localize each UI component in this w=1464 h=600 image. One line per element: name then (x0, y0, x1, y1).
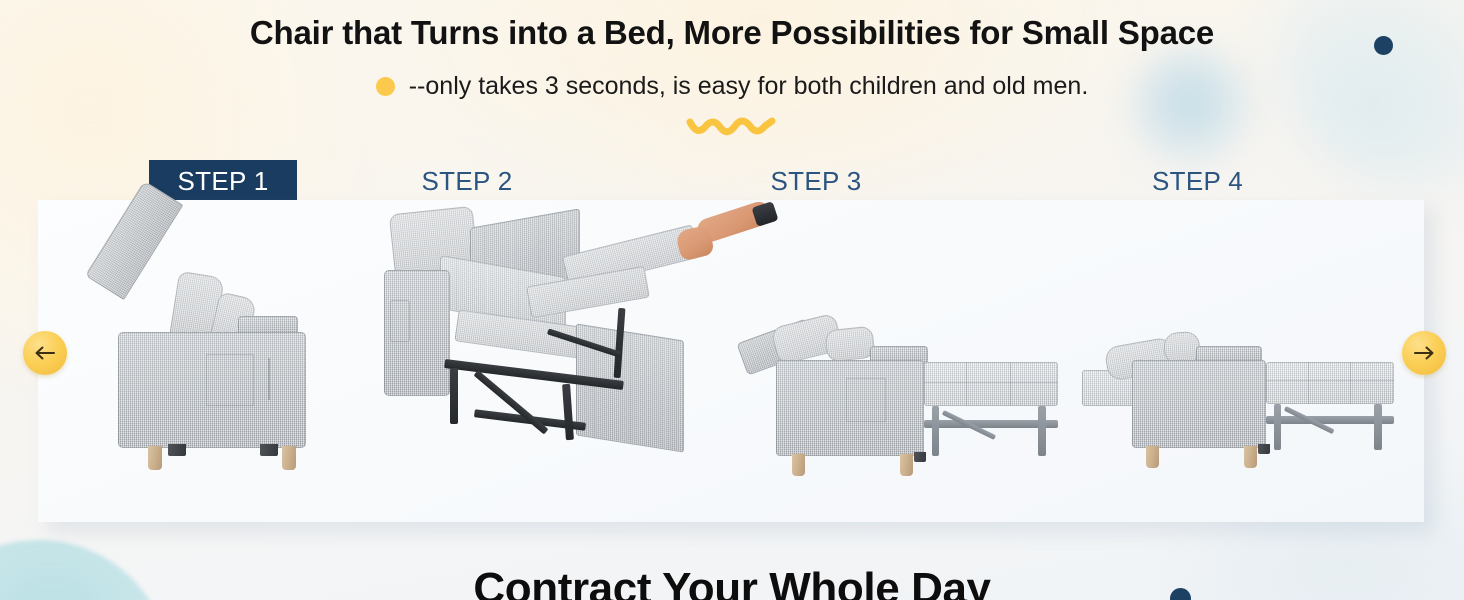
step2-arm-pocket (390, 300, 410, 342)
step4-foot-back (1258, 444, 1270, 454)
step3-frame-leg-2 (1038, 406, 1046, 456)
step3-foot-back (914, 452, 926, 462)
navy-dot-icon (1374, 36, 1393, 55)
step4-leg-back (1244, 446, 1257, 468)
step4-side-body (1132, 360, 1266, 448)
step3-frame-leg-1 (932, 406, 939, 456)
step3-bed-platform (924, 362, 1058, 406)
yellow-wave-divider-icon (686, 112, 778, 142)
step-tab-2-label: STEP 2 (422, 166, 513, 197)
chair-seam-vertical (268, 358, 270, 400)
chair-leg-back (282, 446, 296, 470)
step2-frame-leg-2 (562, 384, 574, 440)
step2-frame-leg-1 (450, 368, 458, 424)
page-title: Chair that Turns into a Bed, More Possib… (0, 14, 1464, 52)
step-tab-2[interactable]: STEP 2 (297, 160, 637, 202)
step-tab-bar: STEP 1 STEP 2 STEP 3 STEP 4 (55, 160, 1400, 202)
infographic-stage: Chair that Turns into a Bed, More Possib… (0, 0, 1464, 600)
chair-seam-detail (206, 354, 254, 406)
arrow-left-icon (34, 346, 56, 360)
step-1-figure (110, 250, 330, 480)
bottom-section-title: Contract Your Whole Day (0, 564, 1464, 600)
step3-leg-back (900, 454, 913, 476)
step-tab-3-label: STEP 3 (771, 166, 862, 197)
step-tab-1[interactable]: STEP 1 (149, 160, 297, 202)
step-tab-4-label: STEP 4 (1152, 166, 1243, 197)
step-images-panel (38, 200, 1424, 522)
chair-leg-front (148, 446, 162, 470)
step4-bed-platform (1266, 362, 1394, 404)
step4-frame-leg-1 (1274, 404, 1281, 450)
step4-bed-tuft-h (1266, 380, 1394, 381)
step4-bed-tuft-2 (1350, 362, 1351, 404)
step3-bed-tuft-1 (966, 362, 967, 406)
chair-foot-front (168, 444, 186, 456)
step-4-figure (1076, 304, 1406, 474)
subtitle-row: --only takes 3 seconds, is easy for both… (0, 72, 1464, 101)
chair-foot-back (260, 444, 278, 456)
step3-bed-tuft-2 (1010, 362, 1011, 406)
step3-bed-tuft-h (924, 382, 1058, 383)
step4-frame-leg-2 (1374, 404, 1382, 450)
arrow-right-icon (1413, 346, 1435, 360)
page-subtitle: --only takes 3 seconds, is easy for both… (409, 72, 1089, 101)
step3-pillow-2 (824, 326, 875, 363)
step-3-figure (738, 304, 1068, 476)
step2-frame-diagonal-1 (474, 370, 549, 434)
step-tab-3[interactable]: STEP 3 (637, 160, 995, 202)
step-tab-1-label: STEP 1 (178, 166, 269, 197)
yellow-dot-icon (376, 77, 395, 96)
next-slide-button[interactable] (1402, 331, 1446, 375)
blue-blob-top-right (1126, 44, 1258, 172)
step4-leg-front (1146, 446, 1159, 468)
step3-seam (846, 378, 886, 422)
step-tab-4[interactable]: STEP 4 (995, 160, 1400, 202)
step4-bed-tuft-1 (1308, 362, 1309, 404)
step3-leg-front (792, 454, 805, 476)
step-2-figure (378, 204, 770, 500)
previous-slide-button[interactable] (23, 331, 67, 375)
